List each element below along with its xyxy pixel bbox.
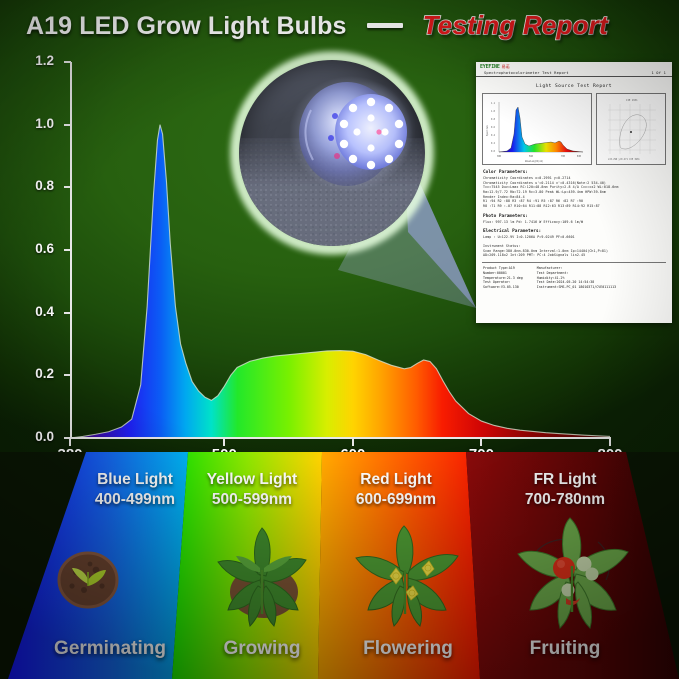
svg-text:0.6: 0.6: [491, 126, 496, 129]
svg-text:560: 560: [529, 155, 534, 158]
svg-text:1.0: 1.0: [491, 110, 496, 113]
svg-text:700: 700: [561, 155, 566, 158]
report-header-right: 1 Of 1: [651, 71, 666, 75]
report-header-row: Spectrophotocolorimeter Test Report 1 Of…: [476, 70, 672, 77]
band-label-red: Red Light600-699nm: [306, 470, 486, 511]
report-section-heading: Electrical Parameters:: [483, 229, 672, 234]
stage-label-fr: Fruiting: [465, 638, 665, 660]
plant-fruiting: [506, 512, 636, 636]
band-range: 700-780nm: [475, 490, 655, 510]
svg-text:0.2: 0.2: [491, 142, 496, 145]
report-brand-cn: 易诺: [502, 64, 510, 70]
report-brand-name: EYEFINE: [480, 64, 500, 70]
plant-germinating: [50, 540, 126, 616]
report-header-left: Spectrophotocolorimeter Test Report: [484, 71, 569, 75]
report-charts: 1.11.00.8 0.60.40.2 0.0 380560700830 Spe…: [476, 93, 672, 165]
report-line: Lamp : U=122.9V I=0.1206A P=9.0249 PF=0.…: [483, 235, 672, 240]
report-section-heading: Photo Parameters:: [483, 214, 672, 219]
report-spectrum-chart: 1.11.00.8 0.60.40.2 0.0 380560700830 Spe…: [482, 93, 592, 165]
growth-stage-bands: Blue Light400-499nmGerminatingYellow Lig…: [0, 452, 679, 679]
report-footer-right: Manufacturer:Test Department:Humidity:41…: [537, 266, 616, 291]
report-footer-item: Instrument:SMS-PC_01 18010371/CVE0111113: [537, 285, 616, 290]
report-sections: Color Parameters:Chromaticity Coordinate…: [476, 170, 672, 258]
report-footer: Product Type:A19Number:00001Temperature:…: [483, 266, 665, 291]
plant-growing: [202, 518, 320, 634]
report-line: Flux: 997.13 lm Pd: 1.7416 W Efficacy:10…: [483, 220, 672, 225]
svg-text:0.8: 0.8: [491, 118, 496, 121]
svg-text:380: 380: [497, 155, 502, 158]
svg-text:830: 830: [577, 155, 582, 158]
infographic-root: A19 LED Grow Light Bulbs Testing Report: [0, 0, 679, 679]
svg-text:CIE 1931: CIE 1931: [626, 99, 638, 102]
svg-text:Wavelength(nm): Wavelength(nm): [525, 160, 543, 163]
band-range: 600-699nm: [306, 490, 486, 510]
report-title: Light Source Test Report: [476, 84, 672, 89]
svg-text:0.4: 0.4: [491, 134, 496, 137]
report-instrument-line: AD=209.118x2 Int:209 PMT: PC:4 JobSignal…: [483, 253, 672, 258]
svg-text:0.0: 0.0: [491, 150, 496, 153]
report-divider: [482, 262, 666, 263]
svg-text:Spectrum: Spectrum: [486, 125, 489, 136]
report-footer-left: Product Type:A19Number:00001Temperature:…: [483, 266, 523, 291]
plant-flowering: [344, 520, 466, 634]
test-report-card[interactable]: EYEFINE 易诺 Spectrophotocolorimeter Test …: [476, 62, 672, 323]
band-name: Red Light: [306, 470, 486, 490]
band-name: FR Light: [475, 470, 655, 490]
report-brand: EYEFINE 易诺: [476, 62, 672, 70]
report-cri-row: R8 :71 R9 :-07 R10:64 R11:88 R12:63 R13:…: [483, 204, 672, 209]
report-section-heading: Color Parameters:: [483, 170, 672, 175]
report-cie-chart: CIE 1931 x=0.299 y=0.271 CIE 1931: [596, 93, 666, 165]
bulb-circle-image: [239, 60, 425, 246]
band-label-fr: FR Light700-780nm: [475, 470, 655, 511]
report-footer-item: Software:V3.05.130: [483, 285, 523, 290]
svg-text:1.1: 1.1: [491, 102, 496, 105]
svg-text:x=0.299 y=0.271 CIE 1931: x=0.299 y=0.271 CIE 1931: [608, 158, 640, 161]
bulb-svg: [239, 60, 425, 246]
bulb-photo: [239, 60, 425, 246]
